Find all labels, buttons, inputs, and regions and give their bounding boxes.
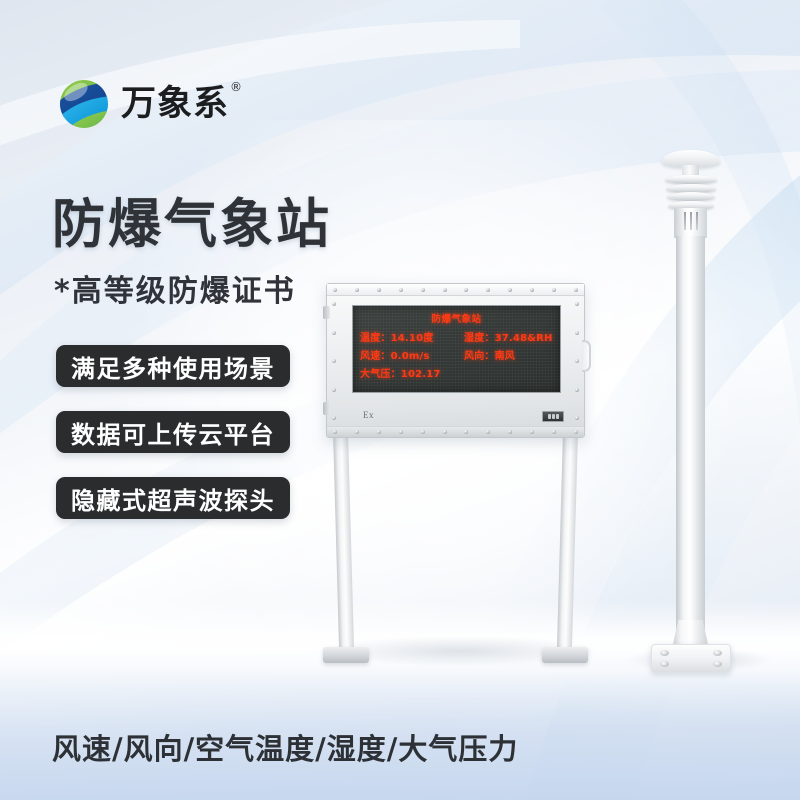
led-display-title: 防爆气象站 [360,311,553,325]
stand-foot-right [542,647,588,663]
led-readings-grid: 温度：14.10度 湿度：37.48&RH 风速：0.0m/s 风向：南风 大气… [360,329,553,380]
stand-foot-left [323,647,369,663]
feature-badge-3: 隐藏式超声波探头 [56,477,290,519]
bolt-row-top [333,288,578,292]
led-reading-wind-speed: 风速：0.0m/s [360,347,464,362]
led-reading-temperature: 温度：14.10度 [360,329,464,344]
brand-name: 万象系 ® [121,87,229,122]
bolt-column-left [332,302,336,420]
mounting-flange-plate-icon [651,644,731,673]
bolt-row-bottom [333,430,578,434]
product-poster: 万象系 ® 防爆气象站 *高等级防爆证书 满足多种使用场景 数据可上传云平台 隐… [0,0,800,800]
bolt-column-right [575,302,579,420]
feature-list: 满足多种使用场景 数据可上传云平台 隐藏式超声波探头 [56,345,290,519]
cabinet-enclosure: 防爆气象站 温度：14.10度 湿度：37.48&RH 风速：0.0m/s 风向… [326,283,585,438]
globe-swirl-logo-icon [56,76,112,132]
sensor-vent-slit-2 [690,212,692,230]
mast-pole [676,236,705,648]
hinge-lower [323,402,330,415]
explosion-proof-display-cabinet: 防爆气象站 温度：14.10度 湿度：37.48&RH 风速：0.0m/s 风向… [318,283,593,663]
led-reading-pressure: 大气压：102.17 [360,365,464,380]
led-reading-wind-direction: 风向：南风 [464,347,561,362]
hinge-upper [323,306,330,319]
registered-mark: ® [230,81,243,93]
feature-tagline: 风速/风向/空气温度/湿度/大气压力 [52,726,518,768]
page-title: 防爆气象站 [52,196,332,254]
feature-badge-1: 满足多种使用场景 [56,345,290,387]
brand-name-text: 万象系 [121,84,229,124]
ex-marking-label: Ex [363,410,374,420]
stand-leg-left [333,423,354,655]
brand-logo: 万象系 ® [56,76,229,132]
door-handle-icon [582,340,591,372]
page-subtitle: *高等级防爆证书 [54,275,296,308]
sensor-vent-slit-1 [684,212,686,230]
led-reading-humidity: 湿度：37.48&RH [464,329,561,344]
radiation-shield-louvers-icon [665,175,717,184]
certification-plate-icon [542,411,564,422]
led-display-panel: 防爆气象站 温度：14.10度 湿度：37.48&RH 风速：0.0m/s 风向… [352,305,561,393]
stand-leg-right [557,423,578,655]
louver-disc-3 [667,192,715,201]
sensor-neck [682,165,699,175]
weather-sensor-mast [640,150,760,670]
sensor-vent-slit-3 [696,212,698,230]
feature-badge-2: 数据可上传云平台 [56,411,290,453]
